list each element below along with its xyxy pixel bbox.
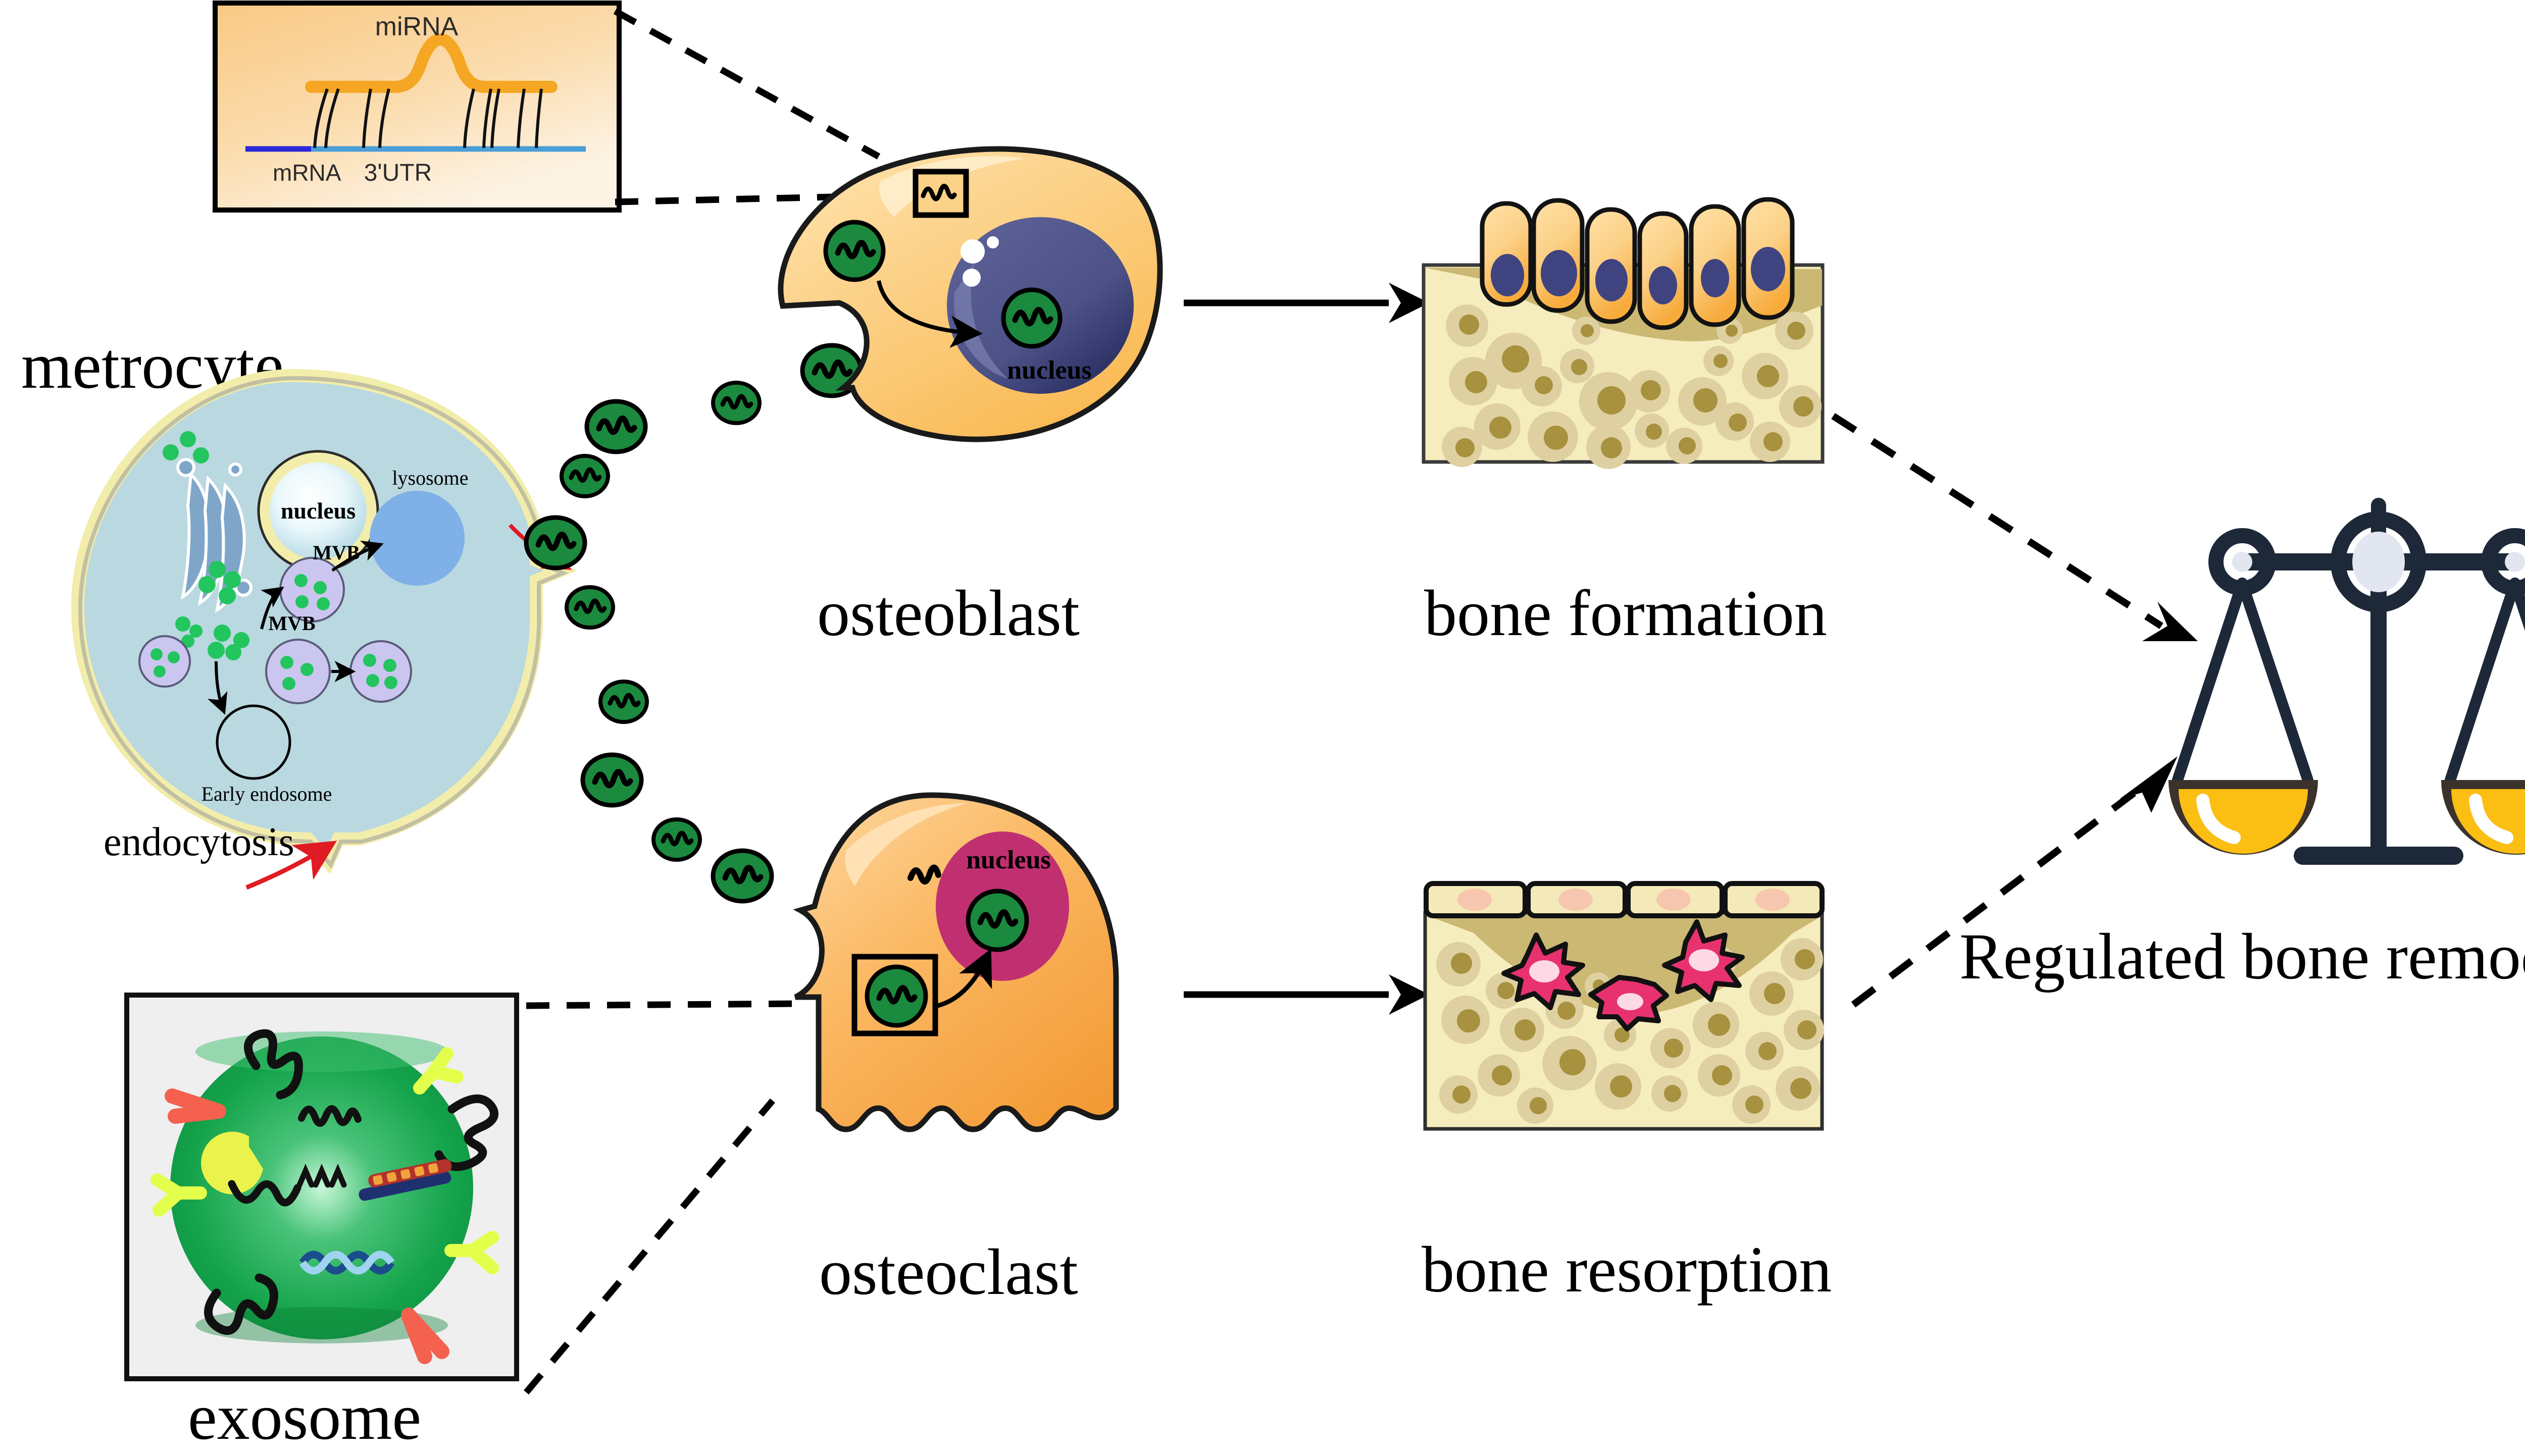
bone-lining-cell <box>1725 883 1822 916</box>
exosome-vesicle <box>587 401 645 452</box>
perinuclear-dot <box>961 239 985 264</box>
scale-pan-right <box>2441 780 2525 855</box>
bone-lining-cell-row <box>1426 883 1822 916</box>
pivot-disc <box>2352 532 2405 592</box>
lysosome-label: lysosome <box>392 466 468 489</box>
osteoblast-columnar-cell <box>1691 206 1739 325</box>
exosome-label: exosome <box>188 1384 421 1450</box>
bone-formation-to-scale-arrow <box>1828 404 2207 656</box>
osteoblast-columnar-cell <box>1534 200 1582 310</box>
osteoblast-columnar-cell <box>1482 203 1531 304</box>
exosome-vesicle <box>562 456 608 496</box>
regulated-bone-remodeling-label: Regulated bone remodeling <box>1959 924 2525 990</box>
utr-label: 3'UTR <box>364 160 432 186</box>
bone-formation-panel <box>1417 179 1836 467</box>
exosome-vesicle <box>653 819 700 860</box>
osteoblast-mirna-inset-box <box>916 172 966 215</box>
perinuclear-dot <box>963 269 981 287</box>
osteoclast-nuclear-exosome <box>968 891 1027 950</box>
perinuclear-dot <box>987 236 999 248</box>
bone-resorption-label: bone resorption <box>1422 1237 1832 1303</box>
osteoblast-nucleus-label: nucleus <box>1007 356 1092 385</box>
right-hanger-hole <box>2505 552 2525 572</box>
osteoblast-to-bone-arrow <box>1177 268 1429 348</box>
osteoblast-cell: nucleus <box>722 126 1172 530</box>
exosome-vesicle <box>583 755 641 805</box>
figure-canvas: miRNA mRNA 3'UTR metrocyte <box>0 0 2525 1456</box>
osteoclast-label: osteoclast <box>819 1239 1078 1305</box>
mirna-inset-panel: miRNA mRNA 3'UTR <box>212 0 631 217</box>
osteoblast-columnar-cell <box>1640 214 1686 328</box>
osteoblast-nuclear-exosome <box>1003 290 1060 346</box>
early-endosome-label: Early endosome <box>201 783 332 805</box>
mvb-label-upper: MVB <box>313 541 360 564</box>
exosome-inset-panel <box>124 992 523 1386</box>
bone-formation-label: bone formation <box>1424 581 1827 646</box>
bone-lining-cell <box>1528 883 1625 916</box>
exosome-vesicle <box>600 682 647 722</box>
multivesicular-body-right <box>350 641 411 702</box>
metrocyte-cell: nucleus lysosome <box>56 369 566 873</box>
mirna-label: miRNA <box>375 12 459 41</box>
bone-lining-cell <box>1628 883 1722 916</box>
osteoblast-cytoplasmic-exosome <box>826 222 883 280</box>
lysosome <box>370 491 465 586</box>
osteoclast-cell: nucleus <box>730 785 1144 1204</box>
balance-scale <box>2151 497 2525 881</box>
mrna-label: mRNA <box>273 160 341 186</box>
osteoclast-nucleus-label: nucleus <box>966 846 1051 874</box>
osteoblast-columnar-cell <box>1744 199 1792 318</box>
bone-resorption-panel <box>1418 858 1832 1133</box>
osteoblast-columnar-cell <box>1587 210 1635 322</box>
exosome-vesicle <box>567 587 613 628</box>
exosome-top-sheen <box>195 1031 448 1072</box>
bone-lining-cell <box>1426 883 1525 916</box>
multivesicular-body-left <box>139 636 190 687</box>
multivesicular-body-mid <box>266 640 330 703</box>
endocytosis-label: endocytosis <box>104 822 294 862</box>
osteoclast-membrane <box>795 795 1116 1129</box>
mvb-label-lower: MVB <box>268 612 315 635</box>
metrocyte-nucleus-label: nucleus <box>281 498 356 524</box>
left-hanger-hole <box>2232 552 2252 572</box>
osteoblast-label: osteoblast <box>817 581 1080 646</box>
osteoclast-to-bone-arrow <box>1177 959 1429 1040</box>
exosome-vesicle <box>526 517 585 568</box>
scale-pan-left <box>2168 780 2318 855</box>
